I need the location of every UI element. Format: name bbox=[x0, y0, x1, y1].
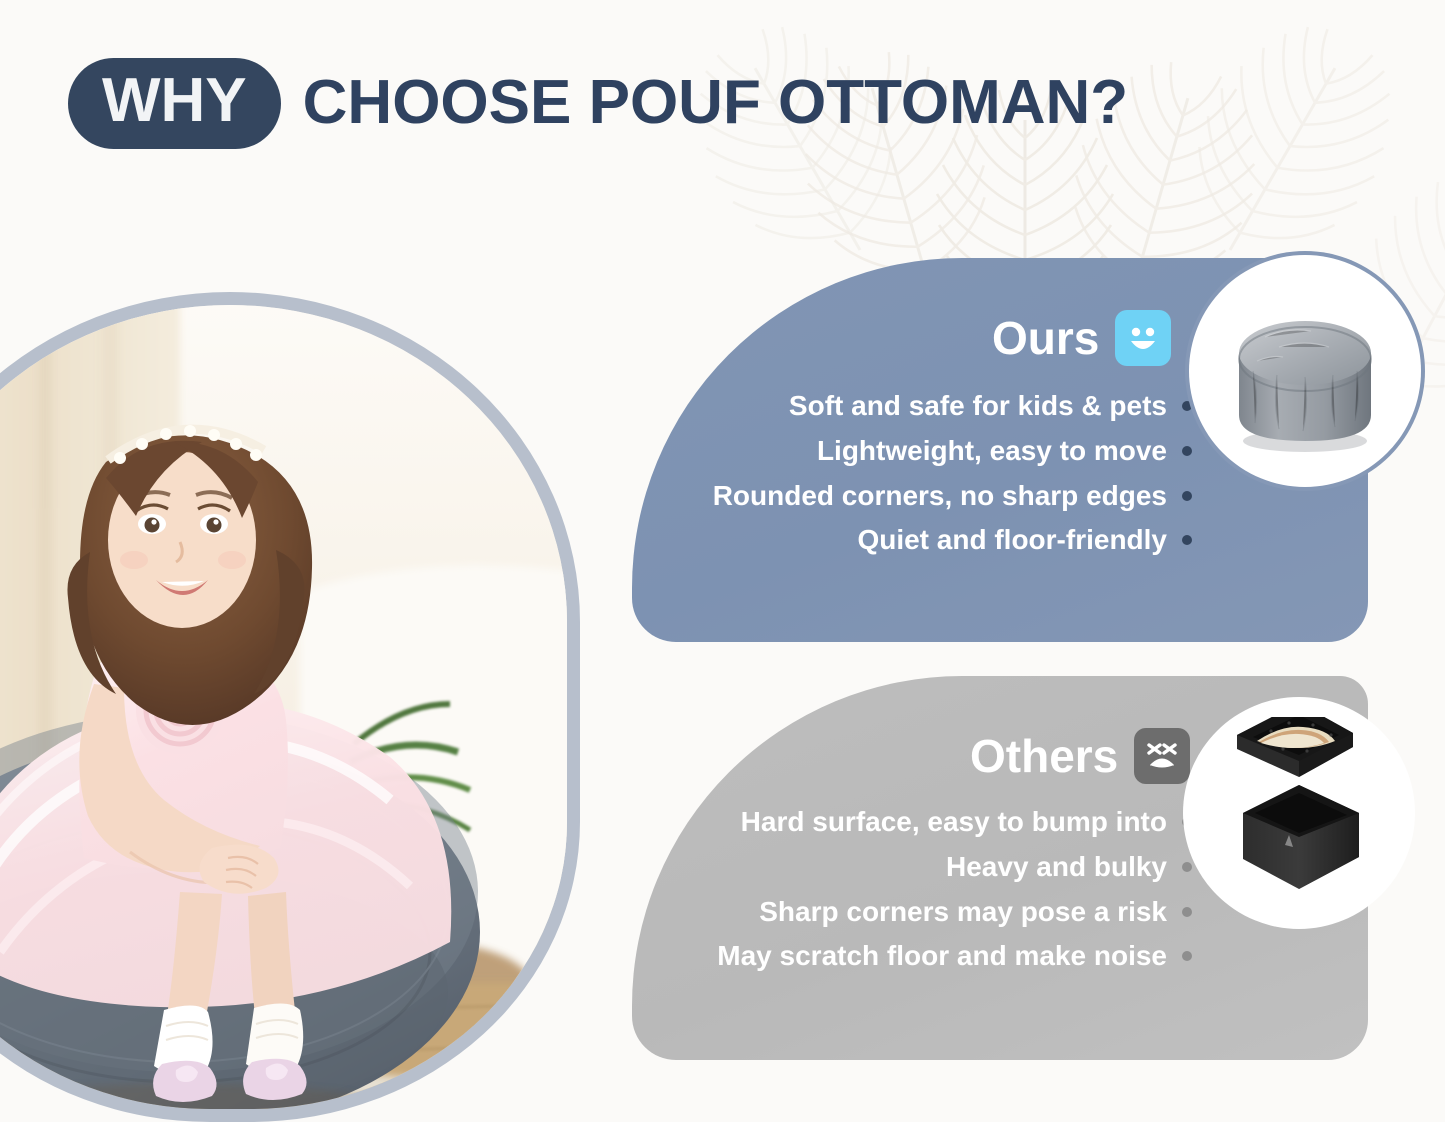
list-item: May scratch floor and make noise bbox=[717, 938, 1192, 974]
hero-arch-frame bbox=[0, 292, 580, 1122]
why-badge: WHY bbox=[68, 58, 281, 149]
bullet-dot-icon bbox=[1182, 907, 1192, 917]
list-item: Sharp corners may pose a risk bbox=[759, 894, 1192, 930]
list-item: Soft and safe for kids & pets bbox=[789, 388, 1192, 424]
others-product-image bbox=[1190, 704, 1408, 922]
list-item: Hard surface, easy to bump into bbox=[741, 804, 1192, 840]
hero-image bbox=[0, 292, 580, 1122]
others-item-text: Heavy and bulky bbox=[946, 849, 1167, 885]
bullet-dot-icon bbox=[1182, 862, 1192, 872]
ours-item-text: Soft and safe for kids & pets bbox=[789, 388, 1167, 424]
others-item-text: Hard surface, easy to bump into bbox=[741, 804, 1167, 840]
round-gray-pouf-ottoman-icon bbox=[1209, 275, 1401, 467]
confounded-face-emoji bbox=[1134, 728, 1190, 784]
bullet-dot-icon bbox=[1182, 401, 1192, 411]
black-square-storage-ottoman-icon bbox=[1203, 717, 1395, 909]
ours-feature-list: Soft and safe for kids & pets Lightweigh… bbox=[713, 388, 1192, 558]
page-header: WHY CHOOSE POUF OTTOMAN? bbox=[68, 58, 1128, 149]
ours-item-text: Lightweight, easy to move bbox=[817, 433, 1167, 469]
ours-header: Ours bbox=[992, 310, 1171, 366]
list-item: Rounded corners, no sharp edges bbox=[713, 478, 1192, 514]
ours-item-text: Rounded corners, no sharp edges bbox=[713, 478, 1167, 514]
bullet-dot-icon bbox=[1182, 446, 1192, 456]
others-item-text: May scratch floor and make noise bbox=[717, 938, 1167, 974]
bullet-dot-icon bbox=[1182, 535, 1192, 545]
list-item: Heavy and bulky bbox=[946, 849, 1192, 885]
grinning-face-emoji bbox=[1115, 310, 1171, 366]
list-item: Lightweight, easy to move bbox=[817, 433, 1192, 469]
page-title: CHOOSE POUF OTTOMAN? bbox=[303, 72, 1129, 134]
ours-item-text: Quiet and floor-friendly bbox=[857, 522, 1167, 558]
others-header: Others bbox=[970, 728, 1190, 784]
others-item-text: Sharp corners may pose a risk bbox=[759, 894, 1167, 930]
ours-title: Ours bbox=[992, 315, 1099, 361]
others-title: Others bbox=[970, 733, 1118, 779]
girl-on-pouf-photo bbox=[0, 292, 580, 1122]
ours-product-image bbox=[1196, 262, 1414, 480]
bullet-dot-icon bbox=[1182, 951, 1192, 961]
others-drawback-list: Hard surface, easy to bump into Heavy an… bbox=[717, 804, 1192, 974]
list-item: Quiet and floor-friendly bbox=[857, 522, 1192, 558]
bullet-dot-icon bbox=[1182, 491, 1192, 501]
